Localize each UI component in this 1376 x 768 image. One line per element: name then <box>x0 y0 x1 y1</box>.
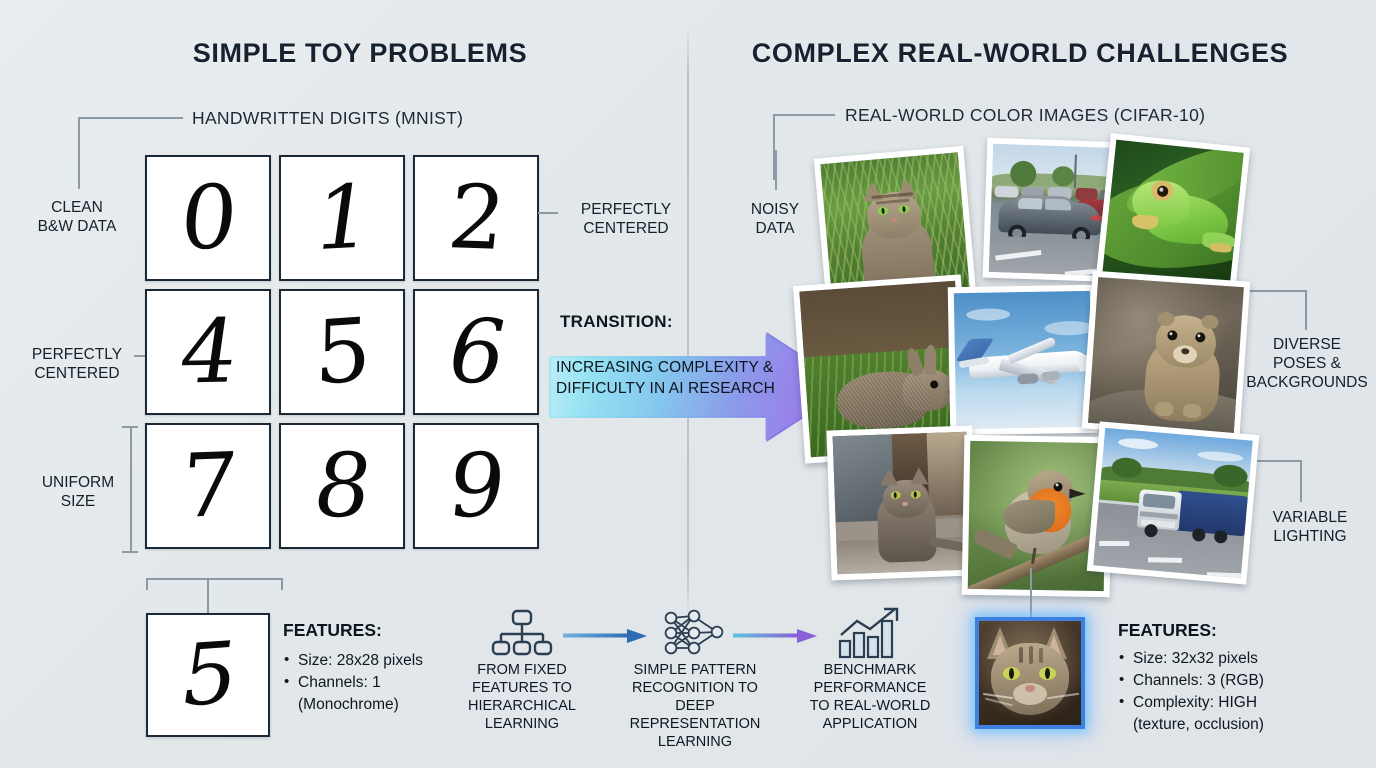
pipeline-step-3: BENCHMARK PERFORMANCE TO REAL-WORLD APPL… <box>794 605 946 733</box>
mnist-digit-glyph: 9 <box>444 442 507 531</box>
mnist-digit-cell: 8 <box>279 423 405 549</box>
mnist-digit-glyph: 8 <box>308 442 376 531</box>
mnist-digit-cell: 2 <box>413 155 539 281</box>
mnist-digit-glyph: 7 <box>178 441 238 531</box>
cifar-photo-cat-on-steps <box>826 425 977 580</box>
cifar-photo-ground-squirrel <box>1082 271 1251 440</box>
bracket-mnist-sample-top <box>146 578 282 580</box>
features-right-list: Size: 32x32 pixels Channels: 3 (RGB) Com… <box>1118 648 1348 736</box>
connector-uniform-size-bracket <box>130 426 132 552</box>
pipeline-step-1: FROM FIXED FEATURES TO HIERARCHICAL LEAR… <box>447 605 597 733</box>
features-left-title: FEATURES: <box>283 620 382 641</box>
features-left-item: Channels: 1 <box>283 672 473 694</box>
connector-diverse-poses <box>1305 290 1307 330</box>
connector-uniform-size-bottom <box>122 551 138 553</box>
cifar-photo-green-tree-frog <box>1096 133 1250 293</box>
label-clean-bw-data: CLEAN B&W DATA <box>12 198 142 236</box>
mnist-digit-cell: 7 <box>145 423 271 549</box>
connector-variable-lighting <box>1300 460 1302 502</box>
mnist-digit-cell: 9 <box>413 423 539 549</box>
section-subhead-cifar: REAL-WORLD COLOR IMAGES (CIFAR-10) <box>845 105 1205 126</box>
mnist-digit-cell: 0 <box>145 155 271 281</box>
cifar-photo-truck-highway <box>1087 421 1259 584</box>
transition-body: INCREASING COMPLEXITY & DIFFICULTY IN AI… <box>556 357 836 399</box>
features-right-item: Size: 32x32 pixels <box>1118 648 1348 670</box>
features-left-list: Size: 28x28 pixels Channels: 1 (Monochro… <box>283 650 473 716</box>
pipeline-step-1-label: FROM FIXED FEATURES TO HIERARCHICAL LEAR… <box>447 661 597 733</box>
bracket-mnist-right-tick <box>281 578 283 590</box>
connector-noisy-data <box>775 150 777 190</box>
connector-diverse-poses-h <box>1250 290 1306 292</box>
page-title-right: COMPLEX REAL-WORLD CHALLENGES <box>710 38 1330 69</box>
cifar-photo-collage <box>815 140 1255 590</box>
cifar-photo-airplane-in-flight <box>948 285 1099 436</box>
mnist-digit-glyph: 6 <box>439 307 513 398</box>
mnist-sample-digit-glyph: 5 <box>175 630 241 719</box>
mnist-digit-glyph: 0 <box>177 173 239 263</box>
page-title-left: SIMPLE TOY PROBLEMS <box>60 38 660 69</box>
cifar-photo-robin-bird <box>962 435 1113 598</box>
transition-heading: TRANSITION: <box>560 312 830 332</box>
mnist-digit-cell: 4 <box>145 289 271 415</box>
mnist-digit-glyph: 4 <box>175 308 242 397</box>
connector-cifar-subhead <box>773 114 835 116</box>
label-uniform-size: UNIFORM SIZE <box>18 473 138 511</box>
connector-mnist-subhead-drop <box>78 117 80 189</box>
connector-mnist-subhead <box>78 117 183 119</box>
label-perfectly-centered-right: PERFECTLY CENTERED <box>560 200 692 238</box>
bar-chart-growth-icon <box>794 605 946 661</box>
label-perfectly-centered-left: PERFECTLY CENTERED <box>10 345 144 383</box>
connector-uniform-size-top <box>122 426 138 428</box>
mnist-digit-cell: 5 <box>279 289 405 415</box>
label-noisy-data: NOISY DATA <box>720 200 830 238</box>
cifar-sample-thumbnail <box>975 617 1085 729</box>
mnist-sample-thumbnail: 5 <box>146 613 270 737</box>
mnist-digit-cell: 1 <box>279 155 405 281</box>
label-variable-lighting: VARIABLE LIGHTING <box>1248 508 1372 546</box>
features-right-item: (texture, occlusion) <box>1118 714 1348 736</box>
mnist-digit-glyph: 5 <box>314 306 370 398</box>
features-right-item: Complexity: HIGH <box>1118 692 1348 714</box>
mnist-digit-glyph: 2 <box>444 173 507 263</box>
bracket-mnist-left-tick <box>146 578 148 590</box>
section-subhead-mnist: HANDWRITTEN DIGITS (MNIST) <box>192 108 463 129</box>
features-left-item: (Monochrome) <box>283 694 473 716</box>
pipeline-step-3-label: BENCHMARK PERFORMANCE TO REAL-WORLD APPL… <box>794 661 946 733</box>
connector-cifar-sample <box>1030 568 1032 618</box>
bracket-mnist-sample-drop <box>207 578 209 614</box>
pipeline-step-2-label: SIMPLE PATTERN RECOGNITION TO DEEP REPRE… <box>610 661 780 751</box>
features-right-title: FEATURES: <box>1118 620 1217 641</box>
mnist-digit-cell: 6 <box>413 289 539 415</box>
mnist-digit-grid: 0 1 2 4 5 6 7 8 9 <box>145 155 539 549</box>
features-right-item: Channels: 3 (RGB) <box>1118 670 1348 692</box>
label-diverse-poses-backgrounds: DIVERSE POSES & BACKGROUNDS <box>1238 335 1376 392</box>
mnist-digit-glyph: 1 <box>309 173 376 264</box>
infographic-canvas: SIMPLE TOY PROBLEMS COMPLEX REAL-WORLD C… <box>0 0 1376 768</box>
connector-perfectly-centered-right <box>538 212 558 214</box>
features-left-item: Size: 28x28 pixels <box>283 650 473 672</box>
